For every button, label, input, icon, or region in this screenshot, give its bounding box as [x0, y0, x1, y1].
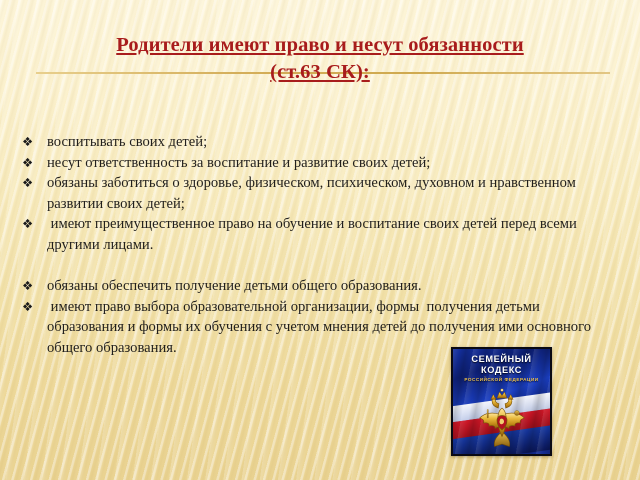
diamond-bullet-icon: ❖ — [20, 173, 47, 194]
list-item-text: обязаны обеспечить получение детьми обще… — [47, 276, 620, 297]
list-item-text: несут ответственность за воспитание и ра… — [47, 153, 620, 174]
russian-coat-of-arms-icon — [471, 387, 533, 449]
slide-title-line-2: (ст.63 СК): — [30, 59, 610, 86]
list-item: ❖ несут ответственность за воспитание и … — [20, 153, 620, 174]
diamond-bullet-icon: ❖ — [20, 276, 47, 297]
list-item-text: воспитывать своих детей; — [47, 132, 620, 153]
family-code-book-image: СЕМЕЙНЫЙ КОДЕКС РОССИЙСКОЙ ФЕДЕРАЦИИ — [451, 347, 552, 456]
diamond-bullet-icon: ❖ — [20, 153, 47, 174]
book-cover-title: СЕМЕЙНЫЙ КОДЕКС РОССИЙСКОЙ ФЕДЕРАЦИИ — [453, 354, 550, 384]
book-title-line-2: КОДЕКС — [453, 365, 550, 376]
list-item: ❖ имеют преимущественное право на обучен… — [20, 214, 620, 255]
list-item: ❖ воспитывать своих детей; — [20, 132, 620, 153]
list-item-text: обязаны заботиться о здоровье, физическо… — [47, 173, 620, 214]
book-title-line-3: РОССИЙСКОЙ ФЕДЕРАЦИИ — [453, 376, 550, 384]
book-cover-artwork: СЕМЕЙНЫЙ КОДЕКС РОССИЙСКОЙ ФЕДЕРАЦИИ — [453, 349, 550, 454]
list-item: ❖ обязаны заботиться о здоровье, физичес… — [20, 173, 620, 214]
presentation-slide: Родители имеют право и несут обязанности… — [0, 0, 640, 480]
bullet-list: ❖ воспитывать своих детей; ❖ несут ответ… — [20, 132, 620, 358]
slide-title: Родители имеют право и несут обязанности… — [30, 32, 610, 86]
list-item: ❖ обязаны обеспечить получение детьми об… — [20, 276, 620, 297]
diamond-bullet-icon: ❖ — [20, 297, 47, 318]
diamond-bullet-icon: ❖ — [20, 214, 47, 235]
diamond-bullet-icon: ❖ — [20, 132, 47, 153]
book-title-line-1: СЕМЕЙНЫЙ — [453, 354, 550, 365]
list-item-text: имеют преимущественное право на обучение… — [47, 214, 620, 255]
slide-title-line-1: Родители имеют право и несут обязанности — [30, 32, 610, 59]
